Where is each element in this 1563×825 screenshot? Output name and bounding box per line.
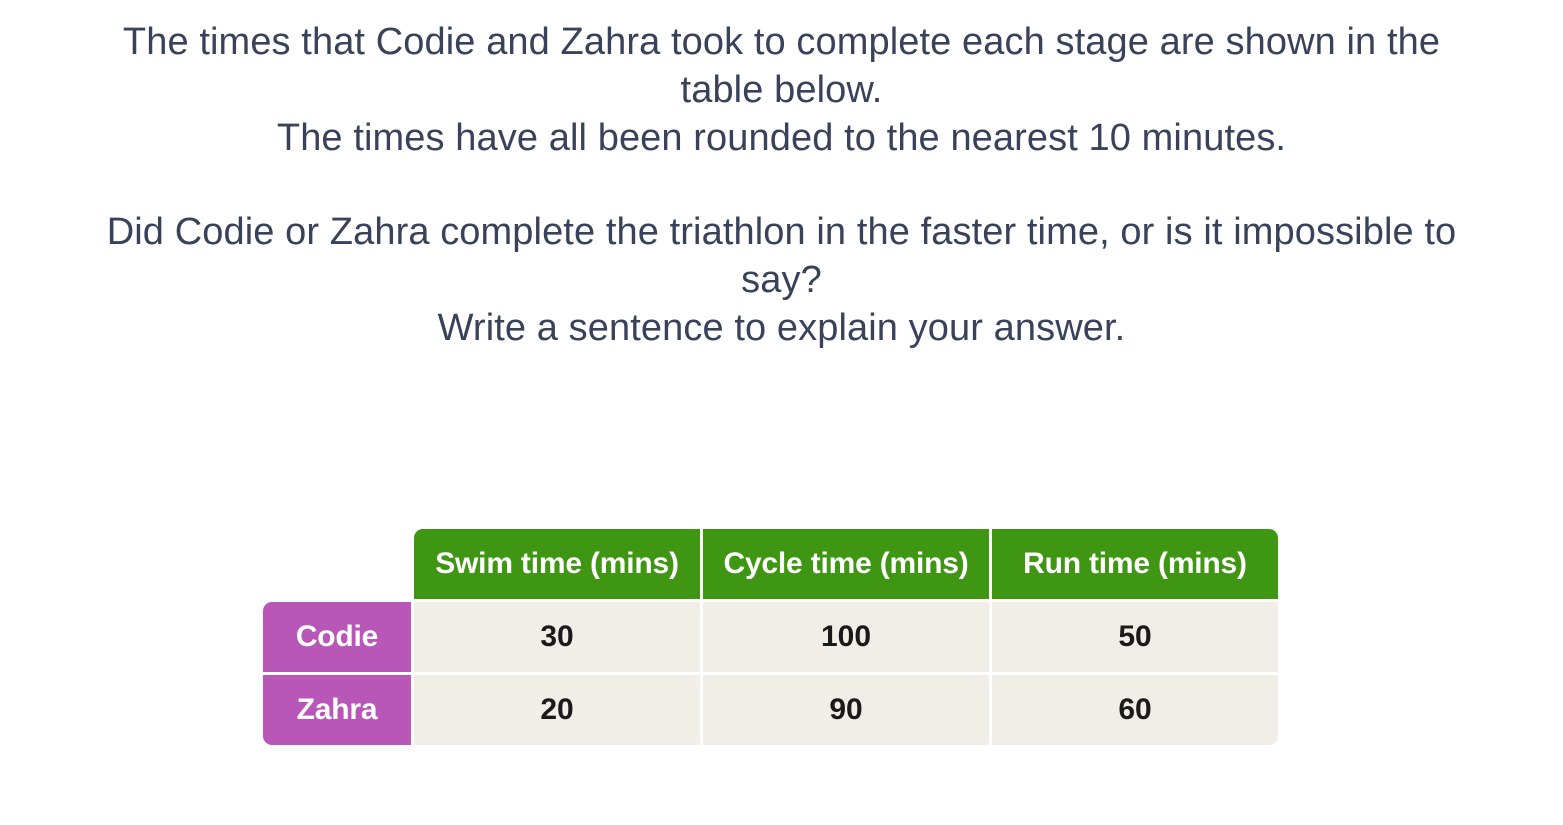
question-paragraph-2: The times have all been rounded to the n… bbox=[0, 114, 1563, 162]
cell-codie-cycle: 100 bbox=[703, 602, 989, 672]
table-header: Swim time (mins) Cycle time (mins) Run t… bbox=[263, 529, 1278, 599]
table-header-row: Swim time (mins) Cycle time (mins) Run t… bbox=[263, 529, 1278, 599]
column-header-run-time: Run time (mins) bbox=[992, 529, 1278, 599]
paragraph-spacer bbox=[0, 162, 1563, 208]
question-paragraph-3: Did Codie or Zahra complete the triathlo… bbox=[0, 208, 1563, 304]
table-row: Zahra 20 90 60 bbox=[263, 675, 1278, 745]
column-header-swim-time: Swim time (mins) bbox=[414, 529, 700, 599]
question-paragraph-1-line-2: table below. bbox=[681, 69, 883, 111]
cell-zahra-swim: 20 bbox=[414, 675, 700, 745]
cell-zahra-run: 60 bbox=[992, 675, 1278, 745]
question-paragraph-1: The times that Codie and Zahra took to c… bbox=[0, 0, 1563, 114]
times-table: Swim time (mins) Cycle time (mins) Run t… bbox=[260, 526, 1281, 748]
cell-zahra-cycle: 90 bbox=[703, 675, 989, 745]
question-paragraph-3-line-1: Did Codie or Zahra complete the triathlo… bbox=[107, 211, 1457, 253]
column-header-cycle-time: Cycle time (mins) bbox=[703, 529, 989, 599]
cell-codie-run: 50 bbox=[992, 602, 1278, 672]
question-paragraph-4: Write a sentence to explain your answer. bbox=[0, 304, 1563, 352]
table-row: Codie 30 100 50 bbox=[263, 602, 1278, 672]
question-paragraph-3-line-2: say? bbox=[741, 259, 822, 301]
question-text-block: The times that Codie and Zahra took to c… bbox=[0, 0, 1563, 352]
times-table-container: Swim time (mins) Cycle time (mins) Run t… bbox=[263, 529, 1273, 745]
cell-codie-swim: 30 bbox=[414, 602, 700, 672]
question-paragraph-1-line-1: The times that Codie and Zahra took to c… bbox=[123, 21, 1440, 63]
table-body: Codie 30 100 50 Zahra 20 90 60 bbox=[263, 602, 1278, 745]
row-header-zahra: Zahra bbox=[263, 675, 411, 745]
table-corner-spacer bbox=[263, 529, 411, 599]
row-header-codie: Codie bbox=[263, 602, 411, 672]
